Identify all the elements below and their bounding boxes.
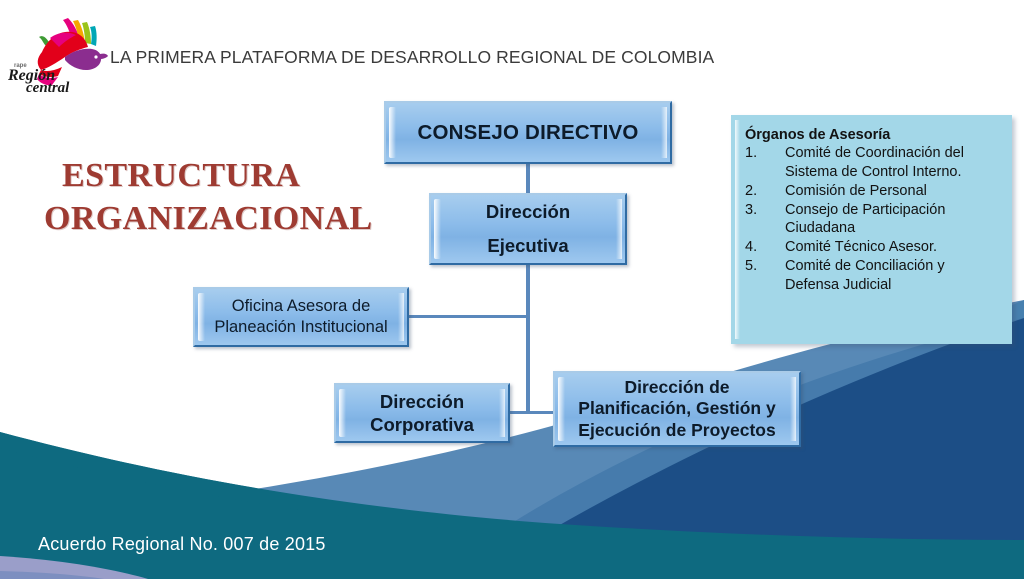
list-item: 2. Comisión de Personal: [745, 182, 1002, 201]
footer-note: Acuerdo Regional No. 007 de 2015: [38, 534, 326, 555]
advisory-list: 1. Comité de Coordinación del Sistema de…: [745, 144, 1002, 295]
org-box-planificacion-line3: Ejecución de Proyectos: [578, 420, 775, 440]
logo-wordmark: rape Región central: [8, 58, 100, 94]
page-title-line1: ESTRUCTURA: [62, 155, 382, 198]
org-box-planificacion-line2: Planificación, Gestión y: [578, 398, 775, 418]
advisory-item-number: 2.: [745, 182, 785, 201]
advisory-item-label: Comité de Conciliación y Defensa Judicia…: [785, 257, 1002, 295]
org-box-consejo-label: CONSEJO DIRECTIVO: [386, 121, 670, 145]
list-item: 5. Comité de Conciliación y Defensa Judi…: [745, 257, 1002, 295]
advisory-item-label: Comité de Coordinación del Sistema de Co…: [785, 144, 1002, 182]
connector-ejecutiva-trunk: [526, 264, 530, 414]
advisory-item-number: 5.: [745, 257, 785, 295]
connector-trunk-planificacion: [528, 411, 555, 414]
connector-trunk-corporativa: [508, 411, 528, 414]
list-item: 3. Consejo de Participación Ciudadana: [745, 201, 1002, 239]
org-box-direccion-ejecutiva[interactable]: Dirección Ejecutiva: [429, 193, 627, 265]
org-box-oficina-line1: Oficina Asesora de: [232, 297, 371, 315]
org-box-corporativa-line1: Dirección: [380, 391, 464, 412]
advisory-panel-title: Órganos de Asesoría: [745, 127, 1002, 143]
org-box-planificacion-line1: Dirección de: [624, 377, 729, 397]
advisory-item-label: Comisión de Personal: [785, 182, 1002, 201]
logo-line2: central: [26, 80, 70, 94]
org-box-corporativa-line2: Corporativa: [370, 414, 474, 435]
connector-consejo-ejecutiva: [526, 164, 530, 194]
header: rape Región central LA PRIMERA PLATAFORM…: [0, 0, 1024, 100]
org-box-oficina-line2: Planeación Institucional: [214, 318, 387, 336]
advisory-organs-panel: Órganos de Asesoría 1. Comité de Coordin…: [731, 115, 1012, 344]
advisory-item-label: Consejo de Participación Ciudadana: [785, 201, 1002, 239]
org-box-oficina-asesora-planeacion[interactable]: Oficina Asesora de Planeación Institucio…: [193, 287, 409, 347]
advisory-item-number: 3.: [745, 201, 785, 239]
page-title-line2: ORGANIZACIONAL: [44, 198, 382, 241]
list-item: 4. Comité Técnico Asesor.: [745, 238, 1002, 257]
org-box-consejo-directivo[interactable]: CONSEJO DIRECTIVO: [384, 101, 672, 164]
org-box-direccion-corporativa[interactable]: Dirección Corporativa: [334, 383, 510, 443]
advisory-item-label: Comité Técnico Asesor.: [785, 238, 1002, 257]
advisory-item-number: 4.: [745, 238, 785, 257]
header-tagline: LA PRIMERA PLATAFORMA DE DESARROLLO REGI…: [110, 47, 714, 68]
connector-trunk-oficina: [407, 315, 528, 318]
list-item: 1. Comité de Coordinación del Sistema de…: [745, 144, 1002, 182]
slide-canvas: rape Región central LA PRIMERA PLATAFORM…: [0, 0, 1024, 579]
org-box-direccion-planificacion[interactable]: Dirección de Planificación, Gestión y Ej…: [553, 371, 801, 447]
advisory-item-number: 1.: [745, 144, 785, 182]
org-box-ejecutiva-line1: Dirección: [441, 203, 615, 222]
org-box-ejecutiva-line2: Ejecutiva: [441, 237, 615, 256]
page-title: ESTRUCTURA ORGANIZACIONAL: [62, 155, 382, 240]
